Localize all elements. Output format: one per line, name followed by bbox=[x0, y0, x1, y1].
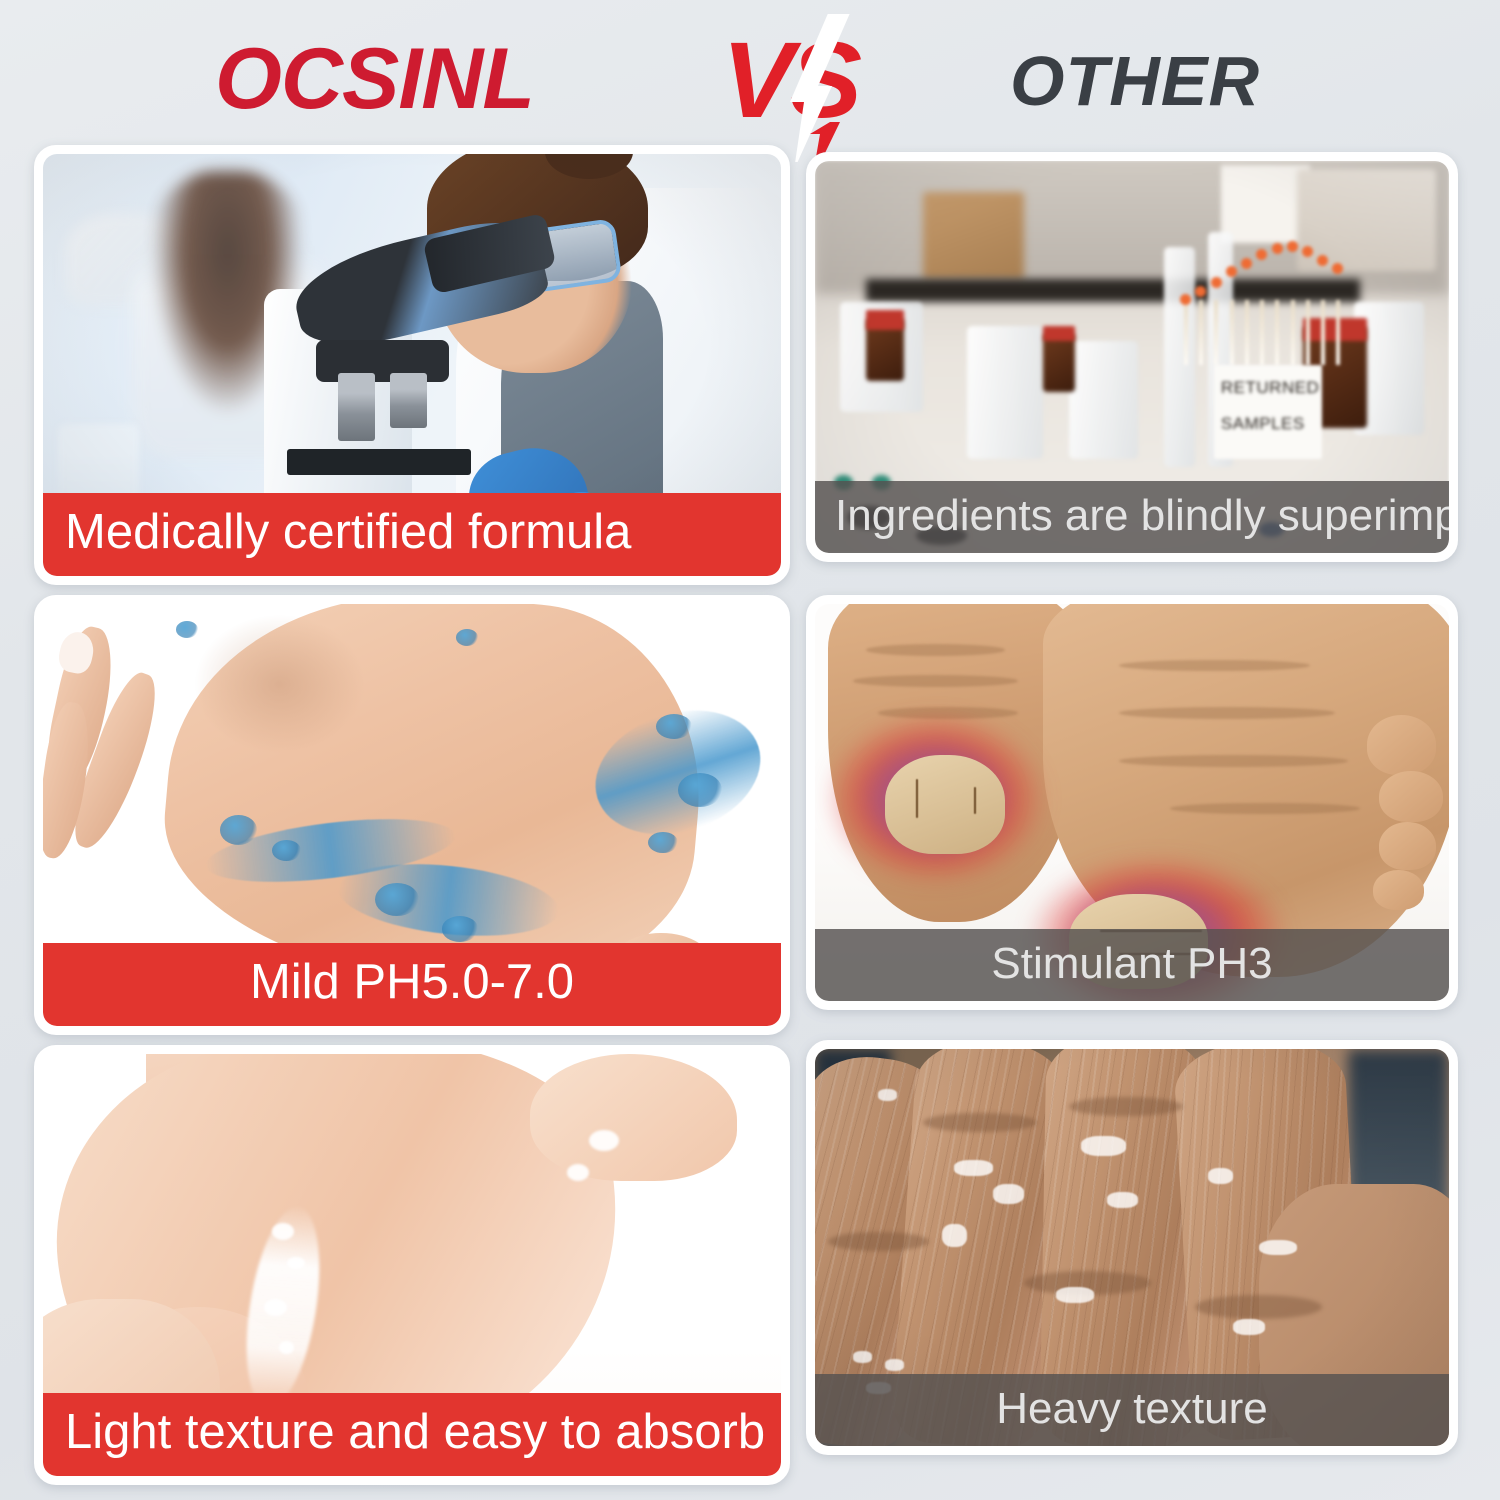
brand-title: OCSINL bbox=[215, 36, 534, 122]
card-theirs-row1: RETURNED SAMPLES Ingredients are blindly… bbox=[806, 152, 1458, 562]
label-line-returned: RETURNED bbox=[1221, 378, 1319, 398]
card-ours-row1: Medically certified formula bbox=[34, 145, 790, 585]
returned-samples-label: RETURNED SAMPLES bbox=[1214, 365, 1322, 459]
caption-ours-row2: Mild PH5.0-7.0 bbox=[43, 943, 781, 1026]
vs-letter-s: S bbox=[790, 26, 862, 134]
comparison-grid: Medically certified formula bbox=[0, 140, 1500, 1500]
caption-theirs-row3: Heavy texture bbox=[815, 1374, 1449, 1446]
comparison-header: OCSINL V S OTHER bbox=[0, 0, 1500, 140]
card-ours-row2: Mild PH5.0-7.0 bbox=[34, 595, 790, 1035]
caption-ours-row3: Light texture and easy to absorb bbox=[43, 1393, 781, 1476]
card-theirs-row3: Heavy texture bbox=[806, 1040, 1458, 1455]
caption-ours-row1: Medically certified formula bbox=[43, 493, 781, 576]
vs-letter-v: V bbox=[722, 26, 794, 134]
card-theirs-row2: Stimulant PH3 bbox=[806, 595, 1458, 1010]
label-line-samples: SAMPLES bbox=[1221, 414, 1305, 434]
other-title: OTHER bbox=[1010, 46, 1260, 116]
caption-theirs-row1: Ingredients are blindly superimposed bbox=[815, 481, 1449, 553]
caption-theirs-row2: Stimulant PH3 bbox=[815, 929, 1449, 1001]
card-ours-row3: Light texture and easy to absorb bbox=[34, 1045, 790, 1485]
